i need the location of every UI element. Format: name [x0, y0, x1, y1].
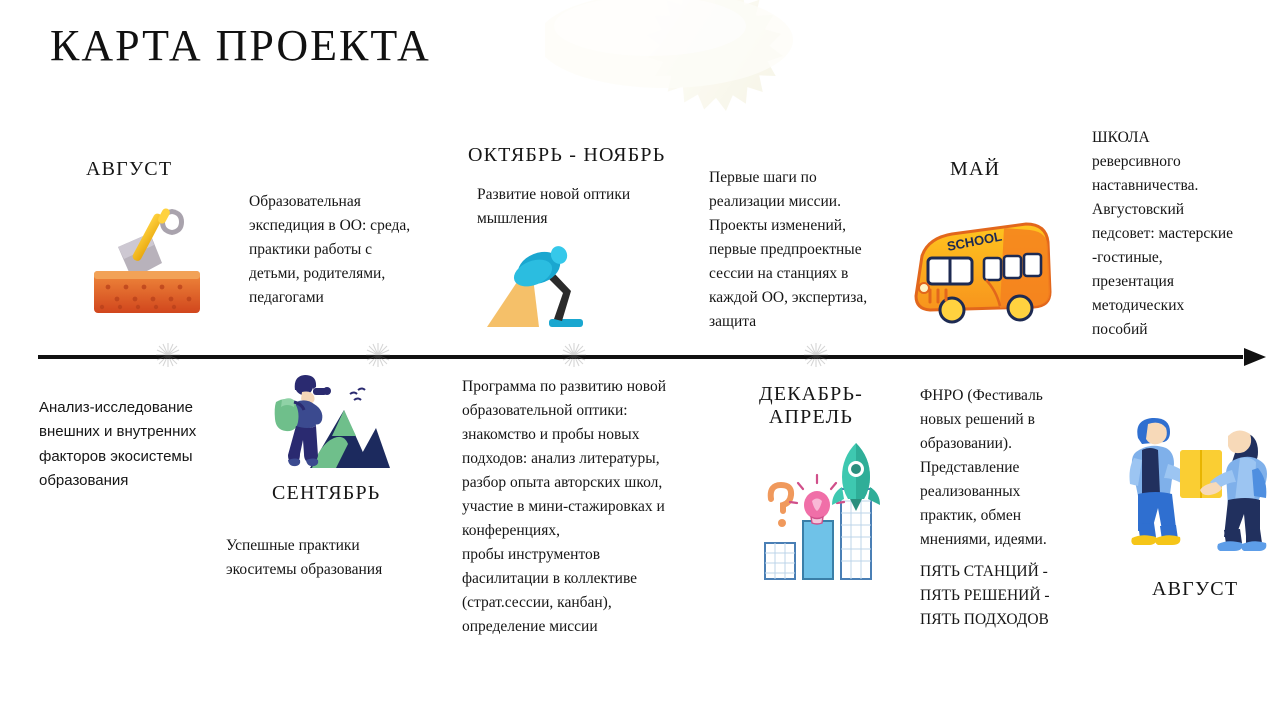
milestone-slogan-fnro: ПЯТЬ СТАНЦИЙ - ПЯТЬ РЕШЕНИЙ - ПЯТЬ ПОДХО… [920, 560, 1110, 632]
shovel-bricks-icon [88, 203, 206, 323]
milestone-month-may: МАЙ [950, 158, 1000, 181]
milestone-text-analysis: Анализ-исследование внешних и внутренних… [39, 396, 264, 493]
milestone-month-december-april: ДЕКАБРЬ- АПРЕЛЬ [759, 383, 863, 429]
project-timeline-axis [38, 352, 1266, 362]
timeline-tick-icon [366, 343, 390, 367]
milestone-month-august-start: АВГУСТ [86, 158, 172, 181]
burst-decoration-icon [545, 0, 855, 123]
timeline-line [38, 355, 1243, 359]
hiker-binoculars-icon [258, 372, 390, 484]
milestone-text-september: Успешные практики экоситемы образования [226, 534, 441, 582]
milestone-text-reverse-school: ШКОЛА реверсивного наставничества. Авгус… [1092, 126, 1272, 342]
milestone-text-expedition: Образовательная экспедиция в ОО: среда, … [249, 190, 464, 310]
desk-lamp-icon [483, 243, 587, 331]
timeline-tick-icon [156, 343, 180, 367]
milestone-month-october-november: ОКТЯБРЬ - НОЯБРЬ [468, 144, 665, 167]
project-roadmap-slide: КАРТА ПРОЕКТА [0, 0, 1280, 720]
milestone-month-september: СЕНТЯБРЬ [272, 482, 381, 505]
milestone-text-program: Программа по развитию новой образователь… [462, 375, 712, 639]
milestone-text-fnro: ФНРО (Фестиваль новых решений в образова… [920, 384, 1100, 552]
two-people-handover-icon [1112, 398, 1267, 558]
milestone-month-august-end: АВГУСТ [1152, 578, 1238, 601]
timeline-tick-icon [562, 343, 586, 367]
growth-chart-rocket-icon [757, 443, 883, 583]
timeline-tick-icon [804, 343, 828, 367]
milestone-text-first-steps: Первые шаги по реализации миссии. Проект… [709, 166, 917, 334]
timeline-arrowhead-icon [1244, 348, 1266, 366]
school-bus-icon: SCHOOL [908, 218, 1058, 336]
page-title: КАРТА ПРОЕКТА [50, 20, 431, 71]
milestone-text-october-november: Развитие новой оптики мышления [477, 183, 677, 231]
